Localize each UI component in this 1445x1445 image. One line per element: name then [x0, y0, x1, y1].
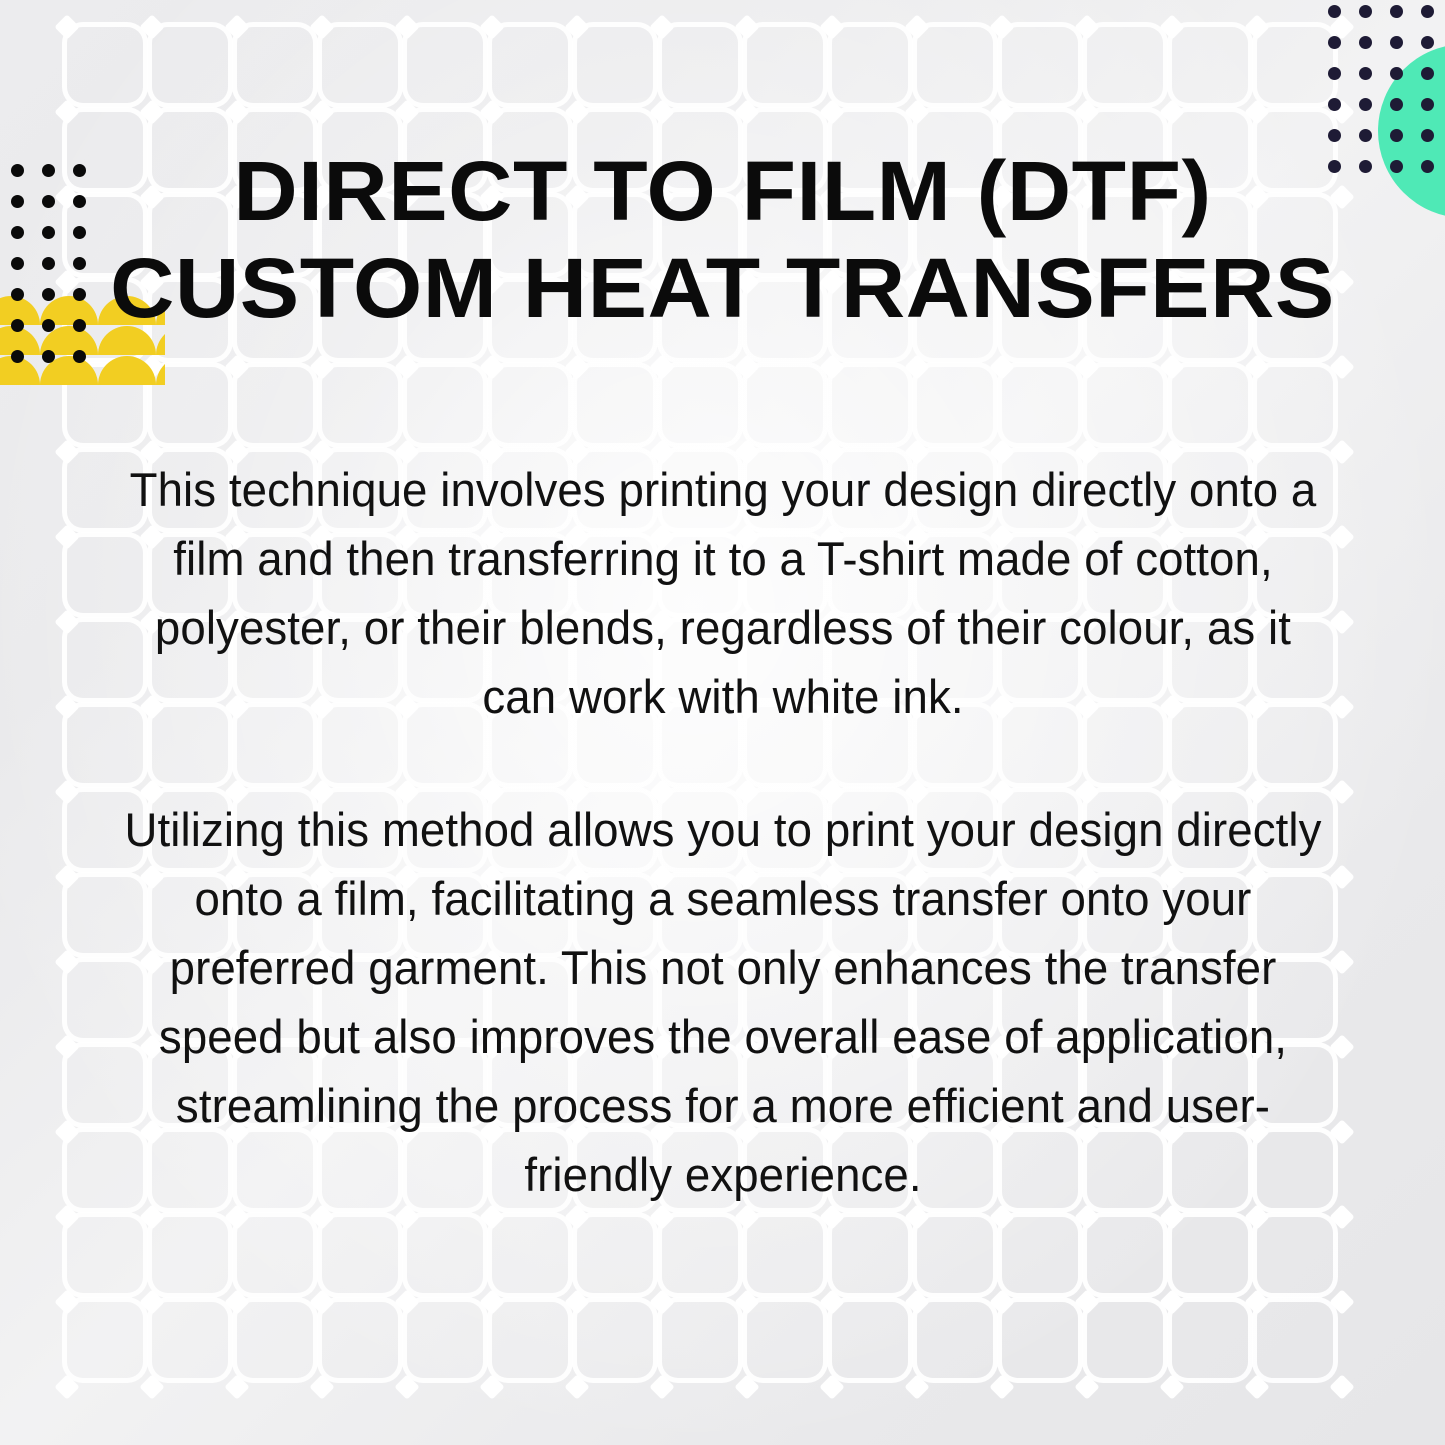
- paragraph-line: friendly experience.: [111, 1140, 1335, 1209]
- paragraph-line: This technique involves printing your de…: [111, 455, 1335, 524]
- paragraph-line: film and then transferring it to a T-shi…: [111, 524, 1335, 593]
- paragraph-one: This technique involves printing your de…: [111, 455, 1335, 731]
- poster-content: DIRECT TO FILM (DTF) CUSTOM HEAT TRANSFE…: [0, 0, 1445, 1445]
- title-line-2: CUSTOM HEAT TRANSFERS: [84, 240, 1361, 337]
- title-line-1: DIRECT TO FILM (DTF): [84, 143, 1361, 240]
- paragraph-line: onto a film, facilitating a seamless tra…: [111, 864, 1335, 933]
- poster-canvas: DIRECT TO FILM (DTF) CUSTOM HEAT TRANSFE…: [0, 0, 1445, 1445]
- paragraph-line: preferred garment. This not only enhance…: [111, 933, 1335, 1002]
- paragraph-line: speed but also improves the overall ease…: [111, 1002, 1335, 1071]
- paragraph-line: streamlining the process for a more effi…: [111, 1071, 1335, 1140]
- paragraph-line: can work with white ink.: [111, 662, 1335, 731]
- page-title: DIRECT TO FILM (DTF) CUSTOM HEAT TRANSFE…: [84, 143, 1361, 337]
- paragraph-line: polyester, or their blends, regardless o…: [111, 593, 1335, 662]
- paragraph-line: Utilizing this method allows you to prin…: [111, 795, 1335, 864]
- paragraph-two: Utilizing this method allows you to prin…: [111, 795, 1335, 1209]
